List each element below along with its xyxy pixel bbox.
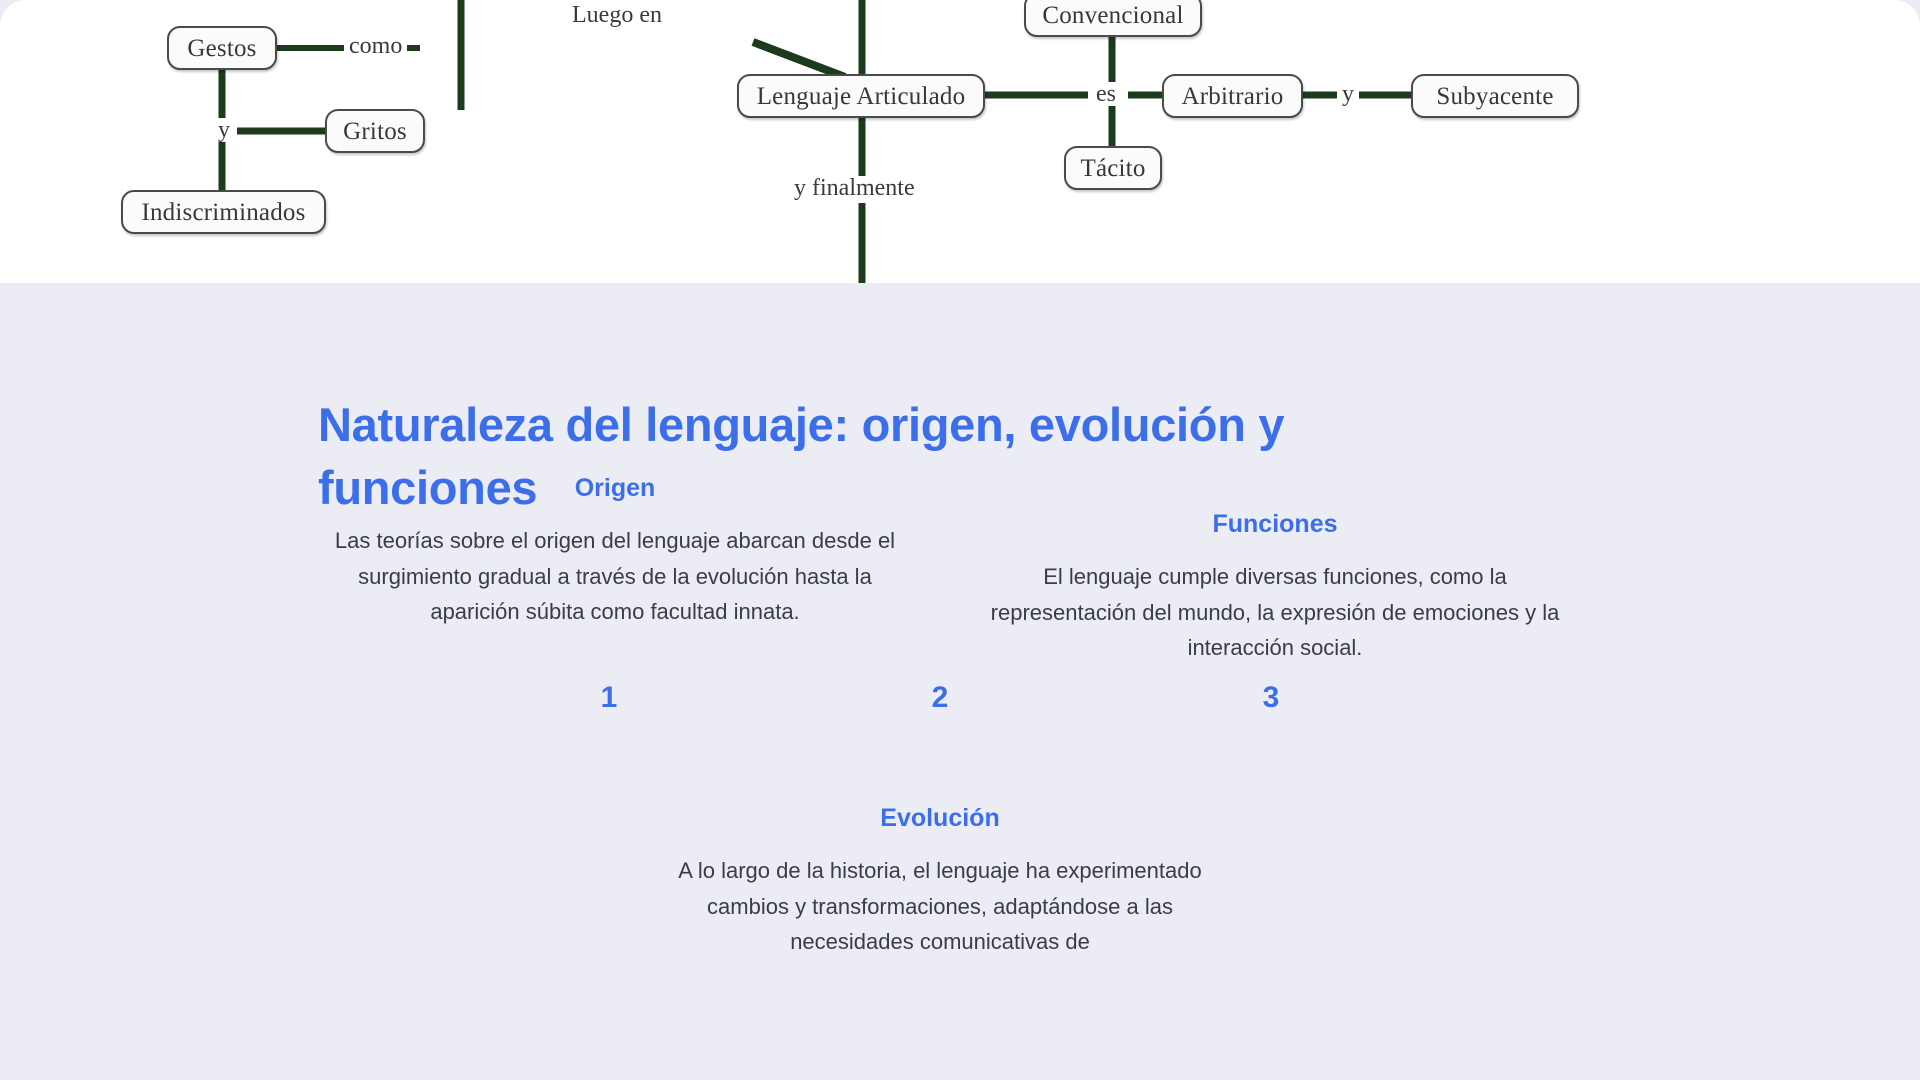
concept-node-convencional: Convencional [1024,0,1202,37]
section-origen: Origen Las teorías sobre el origen del l… [330,473,900,630]
section-body: El lenguaje cumple diversas funciones, c… [990,559,1560,666]
section-number-2: 2 [920,683,960,713]
concept-link-label-y-arbitrario: y [1337,82,1359,106]
concept-map-canvas: Gestos Gritos Indiscriminados Lenguaje A… [0,0,1920,283]
concept-node-arbitrario: Arbitrario [1162,74,1303,118]
section-heading: Funciones [990,509,1560,539]
section-number-row: 1 2 3 [330,683,1560,733]
section-heading: Origen [330,473,900,503]
concept-node-subyacente: Subyacente [1411,74,1579,118]
concept-link-label-es: es [1091,82,1121,106]
section-body: A lo largo de la historia, el lenguaje h… [655,853,1225,960]
section-heading: Evolución [655,803,1225,833]
concept-node-indiscriminados: Indiscriminados [121,190,326,234]
section-funciones: Funciones El lenguaje cumple diversas fu… [990,509,1560,666]
section-body: Las teorías sobre el origen del lenguaje… [330,523,900,630]
concept-node-label: Convencional [1042,3,1183,28]
concept-node-label: Lenguaje Articulado [757,84,966,109]
concept-map-connectors [0,0,1920,283]
concept-node-label: Gritos [343,119,407,144]
section-number-1: 1 [589,683,629,713]
concept-node-gestos: Gestos [167,26,277,70]
concept-link-label-y-finalmente: y finalmente [789,176,920,200]
concept-node-gritos: Gritos [325,109,425,153]
concept-link-label-como: como [344,34,407,58]
page-root: Gestos Gritos Indiscriminados Lenguaje A… [0,0,1920,1080]
concept-link-label-y-gestos: y [213,118,235,142]
concept-node-label: Indiscriminados [141,200,305,225]
concept-node-label: Tácito [1080,156,1145,181]
concept-map-image: Gestos Gritos Indiscriminados Lenguaje A… [0,0,1920,283]
section-number-3: 3 [1251,683,1291,713]
concept-node-label: Gestos [187,36,256,61]
concept-node-lenguaje-articulado: Lenguaje Articulado [737,74,985,118]
section-evolucion: Evolución A lo largo de la historia, el … [655,803,1225,960]
article-content: Naturaleza del lenguaje: origen, evoluci… [0,283,1920,1080]
concept-node-tacito: Tácito [1064,146,1162,190]
concept-node-label: Subyacente [1436,84,1553,109]
concept-link-label-luego-en: Luego en [567,3,667,27]
concept-node-label: Arbitrario [1182,84,1284,109]
